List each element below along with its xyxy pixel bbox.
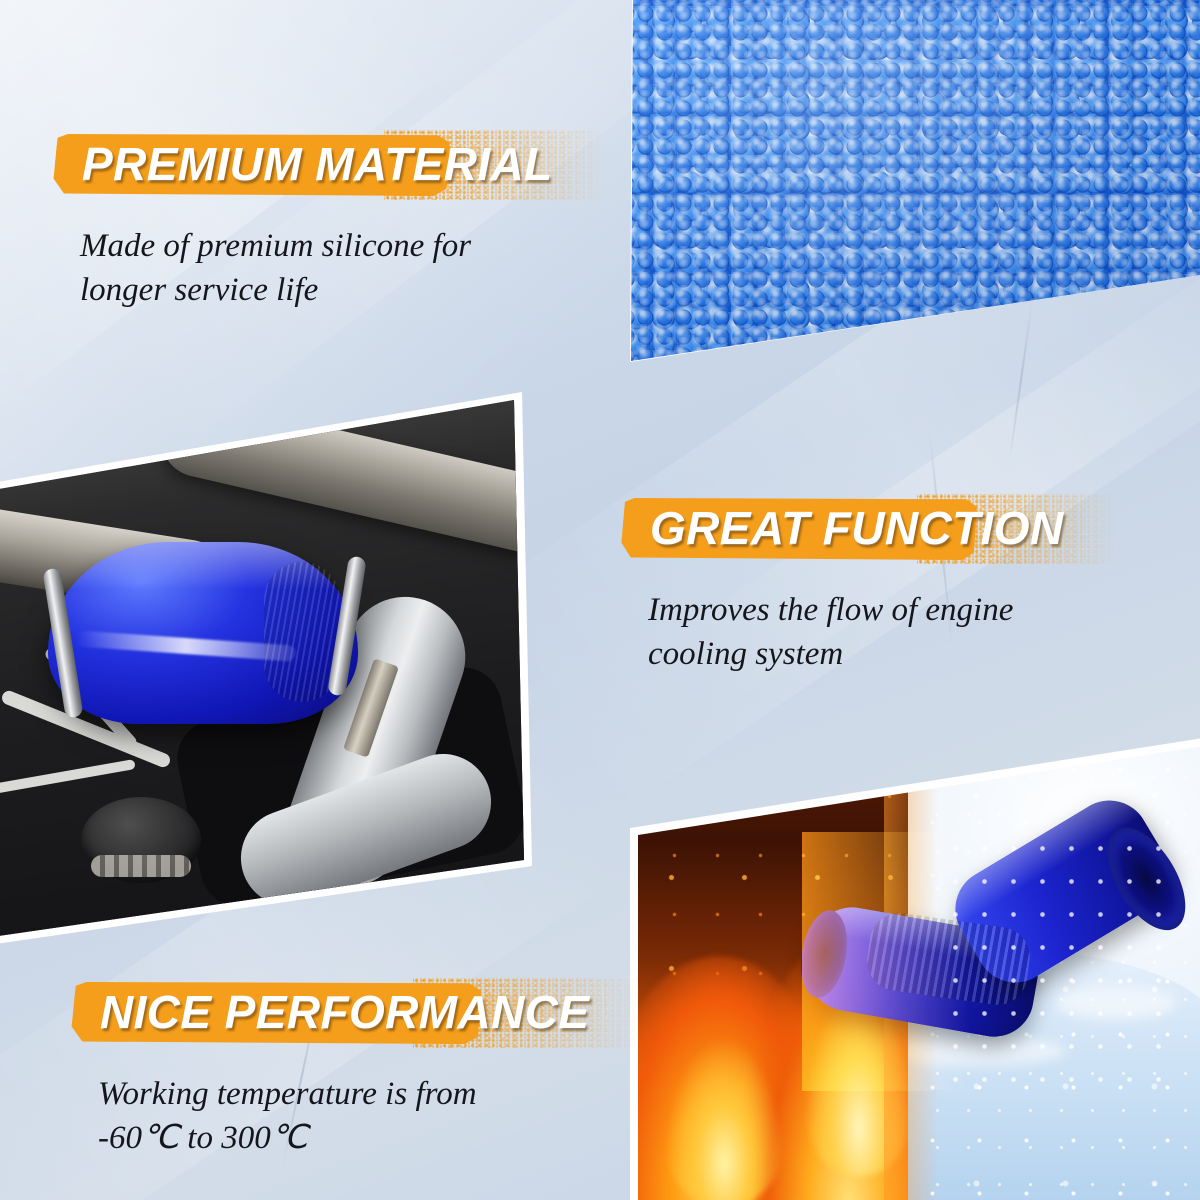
feature-description-line: Working temperature is from (98, 1072, 618, 1116)
heading-brush-stroke: NICE PERFORMANCE (70, 976, 641, 1050)
feature-description: Working temperature is from -60℃ to 300℃ (98, 1072, 618, 1160)
photo-fire-and-snow (624, 736, 1200, 1200)
heading-brush-stroke: PREMIUM MATERIAL (52, 128, 605, 202)
feature-block-nice-performance: NICE PERFORMANCE Working temperature is … (70, 976, 641, 1160)
blue-silicone-hose (802, 832, 1169, 1091)
reservoir-cap (81, 797, 201, 883)
blue-silicone-hose (48, 542, 358, 724)
feature-description-line: longer service life (80, 268, 600, 312)
heading-brush-stroke: GREAT FUNCTION (620, 492, 1116, 566)
feature-description: Made of premium silicone for longer serv… (80, 224, 600, 312)
hose-snow-dust (941, 832, 1169, 1091)
feature-block-premium-material: PREMIUM MATERIAL Made of premium silicon… (52, 128, 605, 312)
feature-description-line: Made of premium silicone for (80, 224, 600, 268)
feature-description-line: -60℃ to 300℃ (98, 1116, 618, 1160)
feature-heading: GREAT FUNCTION (650, 501, 1064, 555)
feature-description-line: Improves the flow of engine (648, 588, 1116, 632)
engine-wire (0, 759, 136, 795)
infographic-canvas: PREMIUM MATERIAL Made of premium silicon… (0, 0, 1200, 1200)
background-vein (1009, 301, 1033, 460)
feature-heading: NICE PERFORMANCE (100, 985, 589, 1039)
photo-panel-fire-and-snow (624, 736, 1200, 1200)
photo-panel-engine-bay (0, 392, 532, 944)
feature-block-great-function: GREAT FUNCTION Improves the flow of engi… (620, 492, 1116, 676)
feature-description: Improves the flow of engine cooling syst… (648, 588, 1116, 676)
feature-heading: PREMIUM MATERIAL (82, 137, 553, 191)
feature-description-line: cooling system (648, 632, 1116, 676)
